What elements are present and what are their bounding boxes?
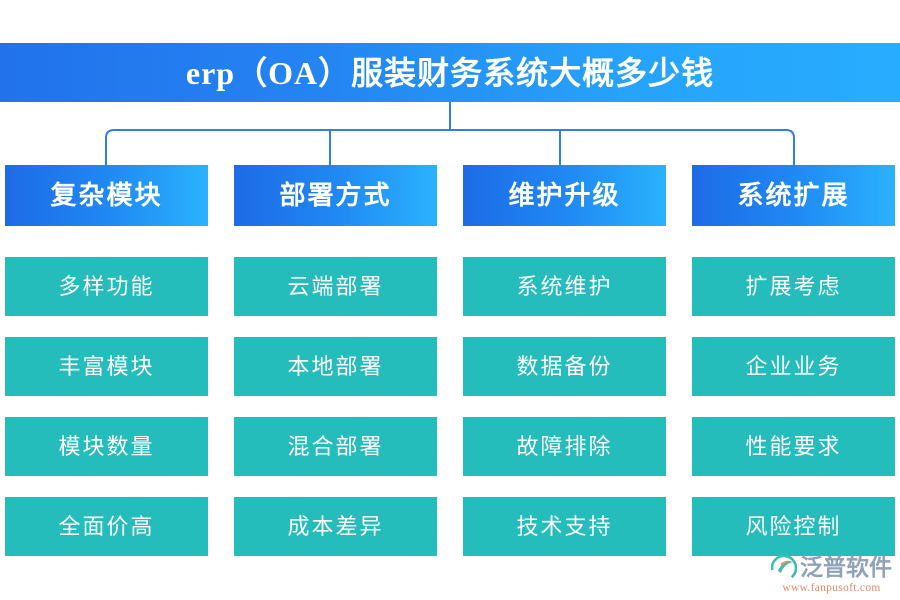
cell-3-2[interactable]: 数据备份 [463, 337, 666, 396]
cell-label: 数据备份 [516, 356, 612, 378]
cell-label: 全面价高 [58, 516, 154, 538]
cell-1-1[interactable]: 多样功能 [5, 257, 208, 316]
connector-lines [0, 100, 900, 170]
logo-url: www.fanpusoft.com [782, 583, 880, 595]
cell-label: 风险控制 [745, 516, 841, 538]
cell-3-1[interactable]: 系统维护 [463, 257, 666, 316]
cell-label: 多样功能 [58, 276, 154, 298]
cell-label: 性能要求 [745, 436, 841, 458]
cell-label: 故障排除 [516, 436, 612, 458]
cell-3-3[interactable]: 故障排除 [463, 417, 666, 476]
cell-1-3[interactable]: 模块数量 [5, 417, 208, 476]
cell-label: 模块数量 [58, 436, 154, 458]
cell-1-2[interactable]: 丰富模块 [5, 337, 208, 396]
cell-4-1[interactable]: 扩展考虑 [692, 257, 895, 316]
logo-row: 泛普软件 [771, 555, 892, 581]
column-header-label: 复杂模块 [50, 183, 162, 209]
cell-label: 云端部署 [287, 276, 383, 298]
cell-4-3[interactable]: 性能要求 [692, 417, 895, 476]
columns-container: 复杂模块 多样功能 丰富模块 模块数量 全面价高 部署方式 云端部署 [0, 165, 900, 565]
cell-label: 扩展考虑 [745, 276, 841, 298]
column-header-4[interactable]: 系统扩展 [692, 165, 895, 226]
cell-label: 成本差异 [287, 516, 383, 538]
column-system-expansion: 系统扩展 扩展考虑 企业业务 性能要求 风险控制 [692, 165, 895, 565]
cell-label: 企业业务 [745, 356, 841, 378]
column-header-2[interactable]: 部署方式 [234, 165, 437, 226]
column-header-3[interactable]: 维护升级 [463, 165, 666, 226]
cell-4-4[interactable]: 风险控制 [692, 497, 895, 556]
diagram-canvas: erp（OA）服装财务系统大概多少钱 复杂模块 多样功能 丰富模块 模块数量 [0, 0, 900, 600]
column-complex-modules: 复杂模块 多样功能 丰富模块 模块数量 全面价高 [5, 165, 208, 565]
fanpu-logo-icon [771, 555, 797, 581]
column-header-1[interactable]: 复杂模块 [5, 165, 208, 226]
column-deployment-method: 部署方式 云端部署 本地部署 混合部署 成本差异 [234, 165, 437, 565]
cell-2-2[interactable]: 本地部署 [234, 337, 437, 396]
column-header-label: 维护升级 [508, 183, 620, 209]
cell-4-2[interactable]: 企业业务 [692, 337, 895, 396]
watermark-logo: 泛普软件 www.fanpusoft.com [771, 555, 892, 595]
logo-name: 泛普软件 [800, 556, 892, 579]
connector-bus [106, 130, 794, 165]
cell-label: 技术支持 [516, 516, 612, 538]
column-header-label: 系统扩展 [737, 183, 849, 209]
cell-label: 系统维护 [516, 276, 612, 298]
diagram-title-bar: erp（OA）服装财务系统大概多少钱 [0, 43, 900, 102]
cell-3-4[interactable]: 技术支持 [463, 497, 666, 556]
cell-label: 丰富模块 [58, 356, 154, 378]
column-maintenance-upgrade: 维护升级 系统维护 数据备份 故障排除 技术支持 [463, 165, 666, 565]
cell-label: 混合部署 [287, 436, 383, 458]
cell-2-1[interactable]: 云端部署 [234, 257, 437, 316]
cell-1-4[interactable]: 全面价高 [5, 497, 208, 556]
cell-2-4[interactable]: 成本差异 [234, 497, 437, 556]
cell-label: 本地部署 [287, 356, 383, 378]
page-title: erp（OA）服装财务系统大概多少钱 [186, 57, 714, 89]
cell-2-3[interactable]: 混合部署 [234, 417, 437, 476]
column-header-label: 部署方式 [279, 183, 391, 209]
